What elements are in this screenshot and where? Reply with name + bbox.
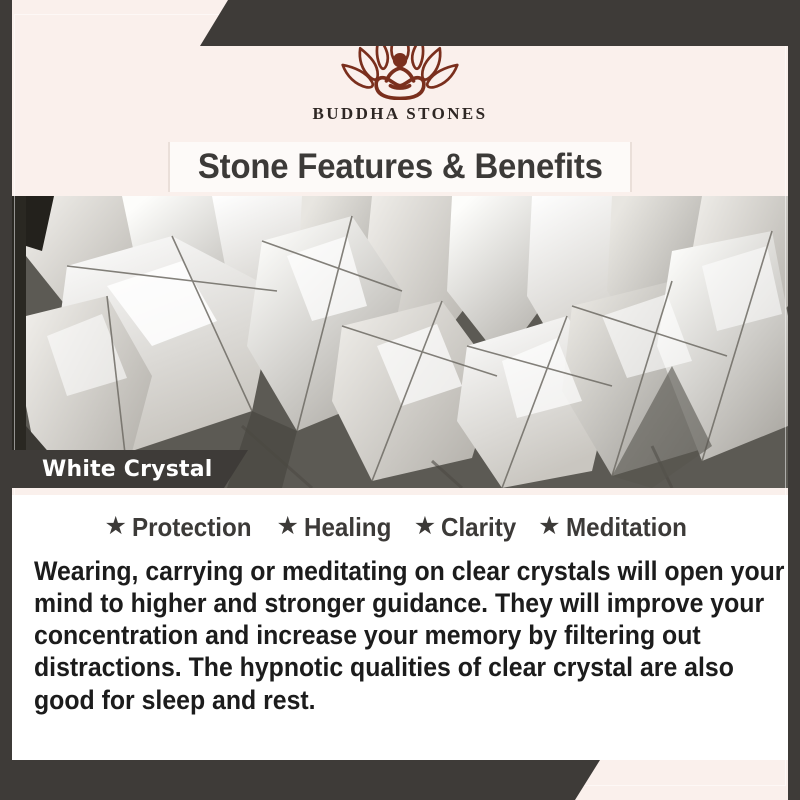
feature-label: Meditation [566,512,687,543]
clear-quartz-crystal-cluster-image [12,196,788,488]
corner-accent-bottom [0,760,800,800]
description-text: Wearing, carrying or meditating on clear… [34,555,791,716]
star-icon: ★ [104,514,126,539]
crystal-photo [12,196,788,488]
feature-label: Clarity [441,512,516,543]
photo-caption-label: White Crystal [12,457,213,482]
feature-item: ★ Healing [276,512,397,543]
edge-accent-left [0,0,12,800]
photo-caption-band: White Crystal [12,450,248,488]
star-icon: ★ [276,514,298,539]
star-icon: ★ [538,514,560,539]
brand-name: BUDDHA STONES [313,104,488,124]
page-title: Stone Features & Benefits [198,147,603,187]
feature-item: ★ Clarity [414,512,522,543]
feature-label: Healing [304,512,391,543]
edge-accent-right [788,0,800,800]
star-icon: ★ [414,514,436,539]
features-row: ★ Protection ★ Healing ★ Clarity ★ Medit… [12,495,788,543]
feature-label: Protection [132,512,252,543]
feature-item: ★ Meditation [538,512,695,543]
title-band: Stone Features & Benefits [168,142,632,192]
feature-item: ★ Protection [104,512,260,543]
poster-canvas: BUDDHA STONES Stone Features & Benefits [0,0,800,800]
content-section: ★ Protection ★ Healing ★ Clarity ★ Medit… [12,495,788,760]
